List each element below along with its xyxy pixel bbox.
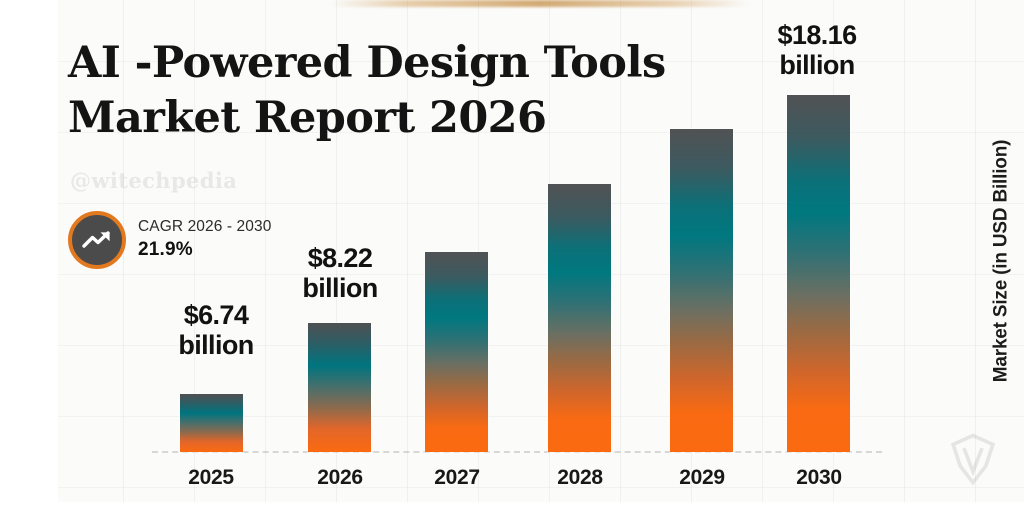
bar-group-2025 <box>180 394 243 452</box>
bar-group-2029 <box>670 129 733 452</box>
left-margin <box>0 0 58 512</box>
bar-2028 <box>548 184 611 452</box>
bottom-margin <box>0 502 1024 512</box>
value-label-2026: $8.22 billion <box>270 243 410 303</box>
x-tick-2025: 2025 <box>146 466 276 490</box>
bar-2027 <box>425 252 488 452</box>
bar-group-2026 <box>308 323 371 452</box>
bar-group-2027 <box>425 252 488 452</box>
x-tick-2027: 2027 <box>392 466 522 490</box>
value-label-2030: $18.16 billion <box>742 20 892 80</box>
value-label-2025: $6.74 billion <box>146 300 286 360</box>
x-tick-2029: 2029 <box>637 466 767 490</box>
chart-baseline <box>152 451 882 453</box>
y-axis-label: Market Size (in USD Billion) <box>984 96 1018 426</box>
x-tick-2028: 2028 <box>515 466 645 490</box>
x-tick-2026: 2026 <box>275 466 405 490</box>
bar-chart-plot: 2025 2026 2027 2028 2029 2030 $6.74 bill… <box>0 0 1024 512</box>
y-axis-label-text: Market Size (in USD Billion) <box>990 140 1012 383</box>
bar-2025 <box>180 394 243 452</box>
bar-2026 <box>308 323 371 452</box>
bar-group-2028 <box>548 184 611 452</box>
bar-2030 <box>787 95 850 452</box>
x-tick-2030: 2030 <box>754 466 884 490</box>
chart-infographic: @witechpedia AI -Powered Design Tools Ma… <box>0 0 1024 512</box>
bar-2029 <box>670 129 733 452</box>
bar-group-2030 <box>787 95 850 452</box>
